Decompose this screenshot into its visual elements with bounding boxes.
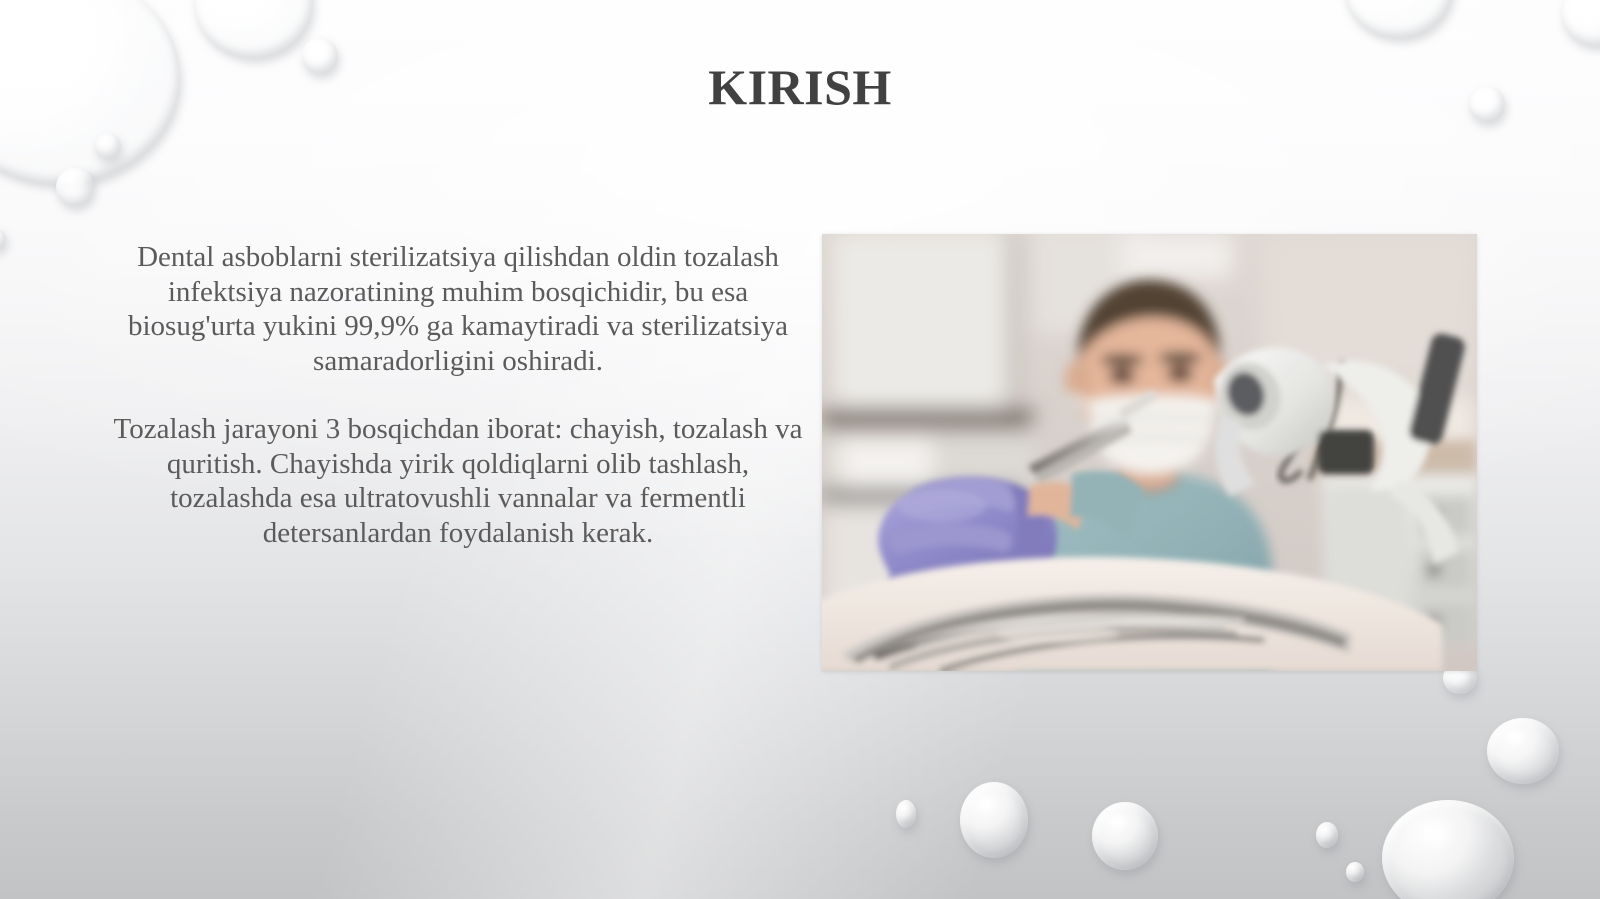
slide-title: KIRISH xyxy=(0,58,1600,116)
water-droplet-icon xyxy=(1345,0,1453,38)
water-droplet-icon xyxy=(896,800,916,828)
presentation-slide: KIRISH Dental asboblarni sterilizatsiya … xyxy=(0,0,1600,899)
water-droplet-icon xyxy=(960,782,1028,858)
water-droplet-icon xyxy=(1346,862,1364,882)
slide-image-dentist xyxy=(822,234,1477,671)
water-droplet-icon xyxy=(56,168,94,206)
water-droplet-icon xyxy=(195,0,313,58)
dentist-photo-illustration xyxy=(822,234,1477,671)
paragraph-spacer xyxy=(108,378,808,412)
body-paragraph-2: Tozalash jarayoni 3 bosqichdan iborat: c… xyxy=(108,412,808,550)
water-droplet-icon xyxy=(1092,802,1158,870)
water-droplet-icon xyxy=(1382,800,1514,899)
body-paragraph-1: Dental asboblarni sterilizatsiya qilishd… xyxy=(108,240,808,378)
slide-body-text: Dental asboblarni sterilizatsiya qilishd… xyxy=(108,240,808,550)
water-droplet-icon xyxy=(1487,718,1559,784)
water-droplet-icon xyxy=(1562,0,1600,46)
water-droplet-icon xyxy=(1316,822,1338,848)
water-droplet-icon xyxy=(0,228,6,250)
water-droplet-icon xyxy=(95,133,121,159)
